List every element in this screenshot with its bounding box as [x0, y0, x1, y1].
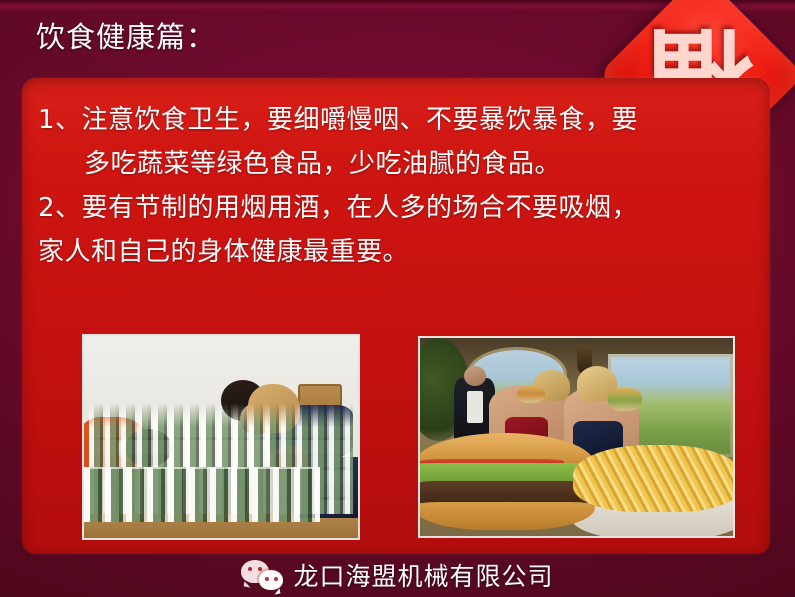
photo-burger-waiter-shirt	[467, 391, 483, 423]
body-line-1: 1、注意饮食卫生，要细嚼慢咽、不要暴饮暴食，要	[38, 98, 754, 142]
wechat-icon	[241, 560, 283, 590]
page-title: 饮食健康篇：	[36, 20, 216, 55]
photo-burger-held-burger-left	[517, 386, 545, 404]
footer-company-name: 龙口海盟机械有限公司	[293, 557, 553, 593]
wechat-bubble-small	[259, 570, 283, 590]
body-text-block: 1、注意饮食卫生，要细嚼慢咽、不要暴饮暴食，要 多吃蔬菜等绿色食品，少吃油腻的食…	[38, 98, 754, 274]
photo-burger-waiter-head	[464, 366, 486, 386]
photo-giant-burger-fries	[418, 336, 735, 538]
photo-drunk-canvas	[84, 336, 358, 538]
photo-drunk-beer-cans-front	[84, 467, 320, 522]
photo-drunk-men-beer-cans	[82, 334, 360, 540]
slide-canvas: 饮食健康篇： 福 1、注意饮食卫生，要细嚼慢咽、不要暴饮暴食，要 多吃蔬菜等绿色…	[0, 0, 795, 597]
photo-burger-canvas	[420, 338, 733, 536]
body-line-2: 2、要有节制的用烟用酒，在人多的场合不要吸烟，	[38, 186, 754, 230]
body-line-2-continued: 家人和自己的身体健康最重要。	[38, 230, 754, 274]
photo-burger-held-burger-right	[608, 388, 642, 412]
footer-bar: 龙口海盟机械有限公司	[0, 553, 795, 597]
body-line-1-continued: 多吃蔬菜等绿色食品，少吃油腻的食品。	[38, 142, 754, 186]
photo-burger-fries	[573, 445, 735, 512]
